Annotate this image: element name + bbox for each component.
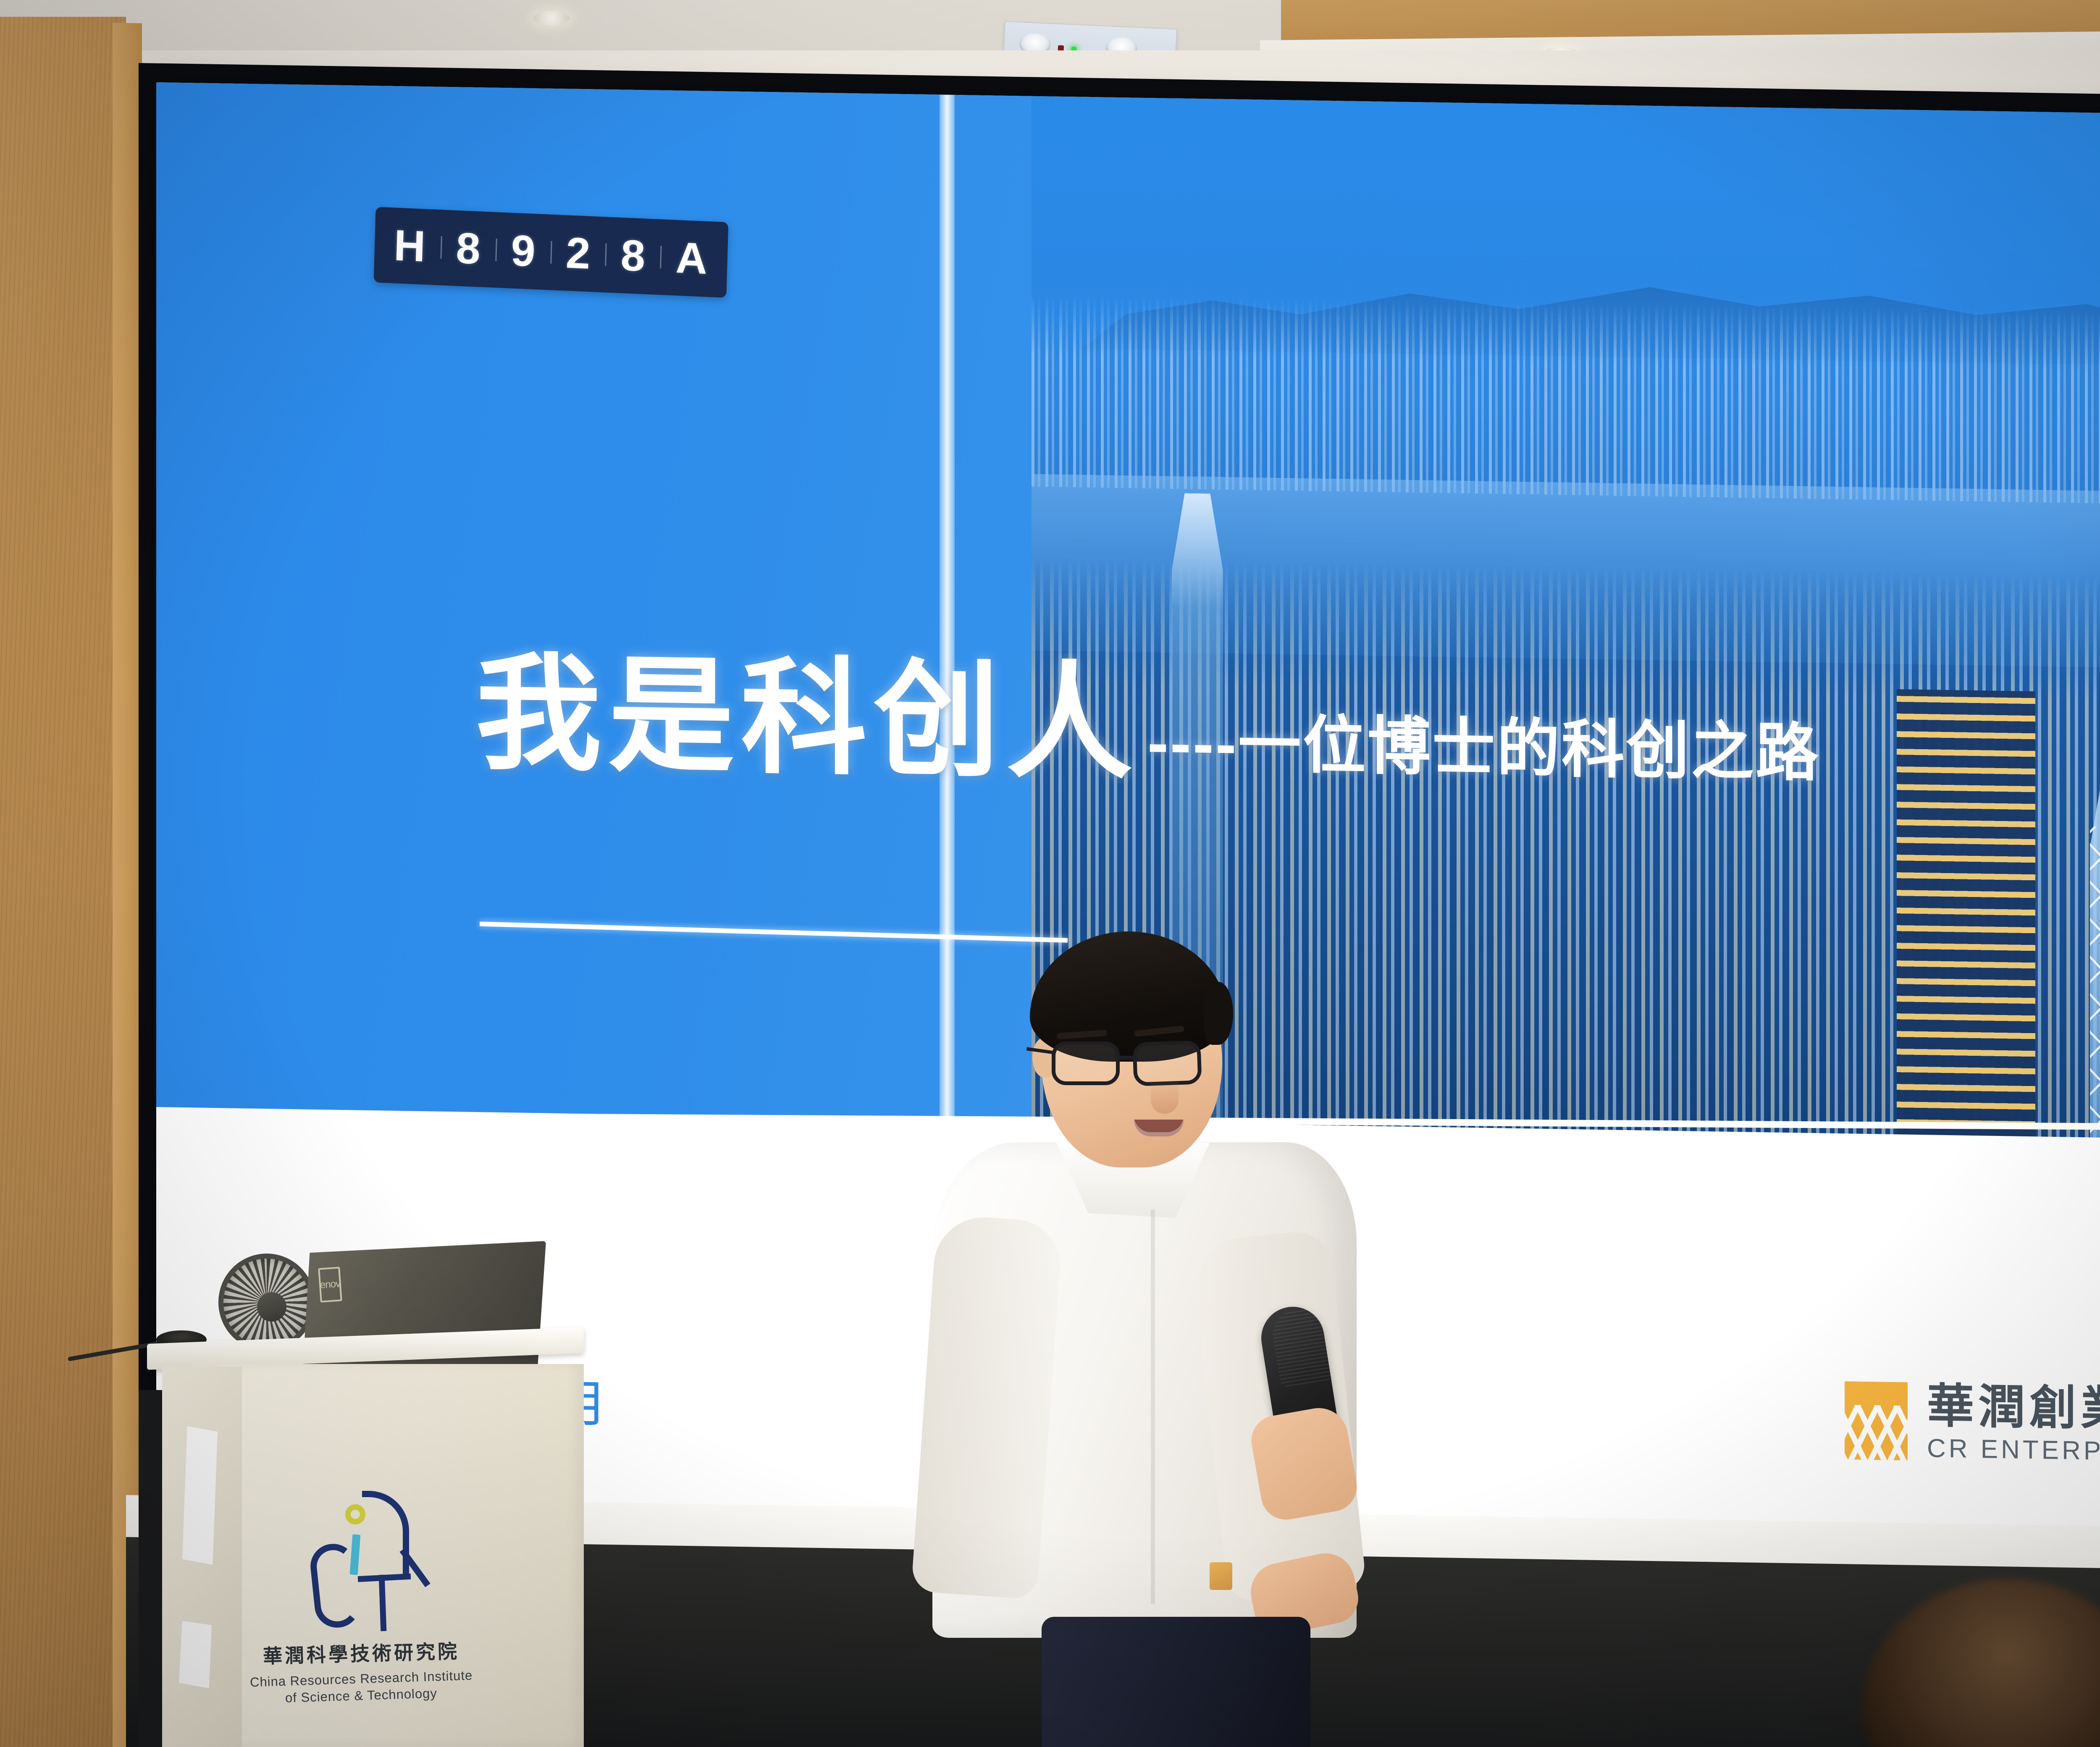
badge-char: 2: [565, 231, 592, 276]
speaker-name-badge: [1210, 1562, 1232, 1590]
status-badge: H 8 9 2 8 A: [374, 207, 729, 298]
mountain-mark-icon: [1845, 1381, 1908, 1460]
wall-panel-left: [0, 17, 126, 1747]
glasses-icon: [1049, 1041, 1215, 1087]
badge-char: H: [393, 223, 427, 268]
speaker-shirt-placket: [1151, 1209, 1155, 1604]
speaker-nose: [1151, 1079, 1179, 1114]
cr-enterprise-logo: 華潤創業 CR ENTERPRISE: [1845, 1381, 2100, 1465]
podium-sign-name-en-1: China Resources Research Institute: [249, 1668, 472, 1690]
fan-blades-icon: [218, 1254, 315, 1351]
badge-separator-icon: [605, 243, 607, 266]
podium-cutout: [179, 1621, 212, 1688]
downlight-icon: [533, 11, 570, 25]
boc-lattice: [2090, 826, 2100, 1147]
badge-char: 8: [620, 233, 647, 278]
cr-logo-name-cn: 華潤創業: [1927, 1382, 2100, 1433]
badge-separator-icon: [550, 241, 552, 264]
badge-char: A: [675, 236, 709, 281]
badge-separator-icon: [495, 239, 497, 261]
glasses-bridge: [1120, 1056, 1137, 1060]
badge-separator-icon: [440, 236, 442, 259]
podium-cutout: [182, 1426, 218, 1565]
far-cityscape: [1032, 294, 2100, 507]
glasses-lens-left: [1052, 1041, 1120, 1085]
slide-title-sub: ----一位博士的科创之路: [1147, 711, 1820, 797]
laptop-brand-logo: Lenovo: [318, 1267, 342, 1302]
sirt-t-stem-icon: [379, 1575, 387, 1631]
badge-char: 8: [455, 226, 482, 271]
badge-char: 9: [510, 229, 537, 274]
speaker-trousers: [1042, 1617, 1310, 1747]
wall-panel-edge: [113, 23, 142, 1747]
sirt-logo-icon: [311, 1488, 412, 1631]
slide-title-main: 我是科创人: [475, 650, 1139, 787]
fan-hub: [257, 1292, 286, 1322]
podium-shadow-gap: [139, 1390, 162, 1747]
cr-logo-name-en: CR ENTERPRISE: [1927, 1435, 2100, 1465]
podium-sign-name-cn: 華潤科學技術研究院: [262, 1636, 460, 1669]
podium-sign: 華潤科學技術研究院 China Resources Research Insti…: [244, 1461, 479, 1730]
podium-sign-name-en-2: of Science & Technology: [285, 1686, 438, 1705]
slide-title: 我是科创人 ----一位博士的科创之路: [475, 650, 2100, 804]
speaker-person: [916, 915, 1445, 1747]
badge-separator-icon: [660, 246, 662, 268]
presentation-scene: H 8 9 2 8 A 我是科创人 ----一位博士的科创之路 年8月 華潤創業…: [0, 0, 2100, 1747]
sirt-r-icon: [362, 1491, 409, 1579]
speaker-arm-left: [911, 1214, 1063, 1600]
podium: 華潤科學技術研究院 China Resources Research Insti…: [139, 1344, 584, 1747]
